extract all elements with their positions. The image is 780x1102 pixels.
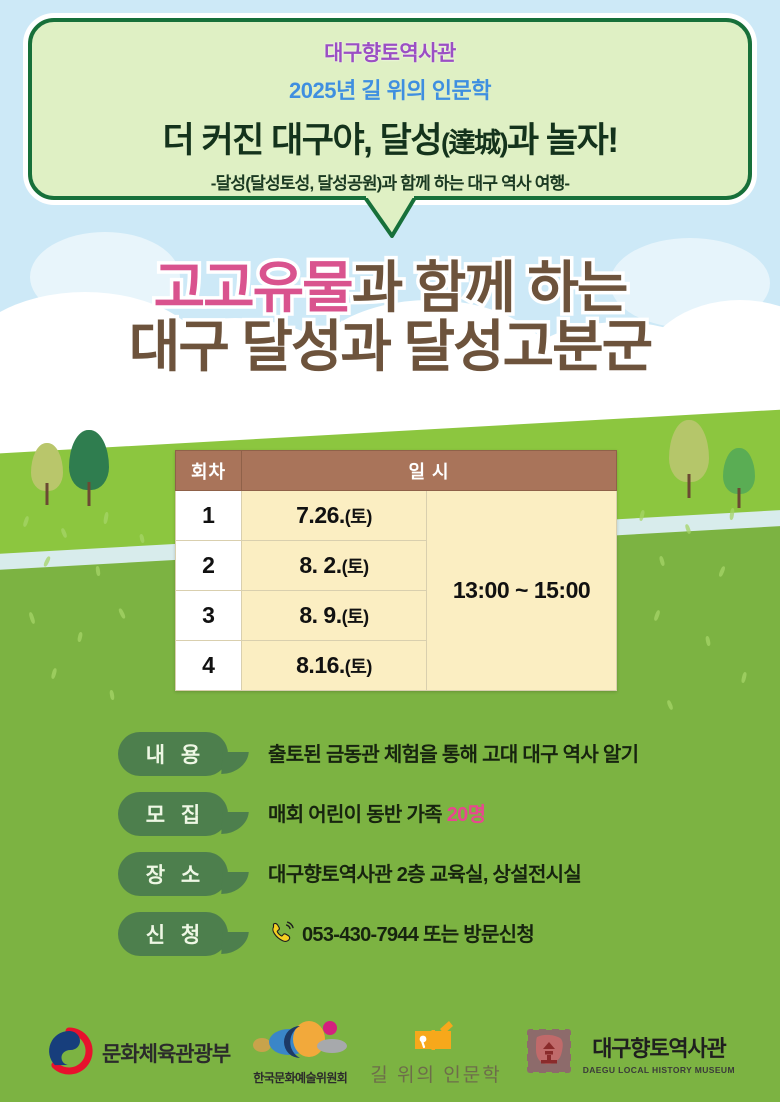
logo-arts-council: 한국문화예술위원회 (252, 1020, 348, 1086)
date-value: 8.16. (296, 652, 345, 678)
phone-icon (268, 921, 296, 951)
phone-number[interactable]: 053-430-7944 (302, 924, 418, 946)
bubble-tail-icon (221, 872, 249, 894)
event-title-main: 더 커진 대구야, 달성 (163, 121, 442, 160)
info-label-text: 신 청 (141, 919, 205, 949)
logo-gil-label: 길 위의 인문학 (370, 1060, 501, 1087)
date-dow: (토) (342, 557, 369, 577)
title-line-1-pink: 고고유물 (154, 256, 352, 319)
logo-museum-ko: 대구향토역사관 (592, 1031, 725, 1063)
info-value-recruit: 매회 어린이 동반 가족 20명 (268, 798, 485, 827)
recruit-count-highlight: 20명 (447, 804, 486, 826)
info-label-bubble-place: 장 소 (118, 852, 228, 896)
logo-museum-en: DAEGU LOCAL HISTORY MUSEUM (583, 1065, 735, 1075)
date-value: 8. 9. (299, 602, 341, 628)
date-dow: (토) (345, 507, 372, 527)
cell-date: 7.26.(토) (242, 491, 427, 541)
logo-museum: 대구향토역사관 DAEGU LOCAL HISTORY MUSEUM (524, 1026, 735, 1081)
header-cell-datetime: 일 시 (242, 451, 617, 491)
info-section: 내 용 출토된 금동관 체험을 통해 고대 대구 역사 알기 모 집 매회 어린… (0, 726, 780, 966)
event-title-tail: 과 놀자! (507, 121, 617, 160)
cell-session-no: 3 (176, 591, 242, 641)
logo-gil-humanities: 길 위의 인문학 (370, 1019, 501, 1087)
date-value: 8. 2. (299, 552, 341, 578)
tree-green-right (722, 448, 756, 508)
logo-ministry: 문화체육관광부 (45, 1027, 230, 1080)
info-value-place: 대구향토역사관 2층 교육실, 상설전시실 (268, 858, 581, 887)
museum-name: 대구향토역사관 (32, 37, 748, 67)
bubble-tail-icon (221, 812, 249, 834)
footer-logos: 문화체육관광부 한국문화예술위원회 (0, 1010, 780, 1096)
cell-session-no: 2 (176, 541, 242, 591)
date-value: 7.26. (296, 502, 345, 528)
table-header-row: 회차 일 시 (176, 451, 617, 491)
event-subtitle: -달성(달성토성, 달성공원)과 함께 하는 대구 역사 여행- (32, 169, 748, 194)
event-title-hanja: (達城) (441, 128, 507, 158)
header-speech-card: 대구향토역사관 2025년 길 위의 인문학 더 커진 대구야, 달성(達城)과… (28, 18, 752, 200)
info-label-text: 내 용 (141, 739, 205, 769)
cell-time-range: 13:00 ~ 15:00 (427, 491, 617, 691)
tree-dark-left (68, 430, 110, 506)
cell-session-no: 1 (176, 491, 242, 541)
header-cell-session: 회차 (176, 451, 242, 491)
info-label-text: 모 집 (141, 799, 205, 829)
arts-council-mark-icon (252, 1020, 348, 1067)
info-row-recruit: 모 집 매회 어린이 동반 가족 20명 (0, 786, 780, 846)
cell-date: 8. 9.(토) (242, 591, 427, 641)
info-label-bubble-apply: 신 청 (118, 912, 228, 956)
bubble-tail-icon (221, 752, 249, 774)
title-line-2: 대구 달성과 달성고분군 (0, 317, 780, 376)
info-row-content: 내 용 출토된 금동관 체험을 통해 고대 대구 역사 알기 (0, 726, 780, 786)
cell-date: 8.16.(토) (242, 641, 427, 691)
recruit-text: 매회 어린이 동반 가족 (268, 804, 447, 826)
logo-arts-council-label: 한국문화예술위원회 (253, 1069, 347, 1086)
info-row-place: 장 소 대구향토역사관 2층 교육실, 상설전시실 (0, 846, 780, 906)
tree-olive-left (30, 443, 64, 505)
date-dow: (토) (342, 607, 369, 627)
title-line-2-text: 대구 달성과 달성고분군 (129, 315, 651, 378)
info-value-apply: 053-430-7944 또는 방문신청 (268, 918, 534, 951)
logo-museum-text-block: 대구향토역사관 DAEGU LOCAL HISTORY MUSEUM (583, 1031, 735, 1075)
schedule-table: 회차 일 시 1 7.26.(토) 13:00 ~ 15:00 2 8. 2.(… (175, 450, 617, 691)
poster-root: 대구향토역사관 2025년 길 위의 인문학 더 커진 대구야, 달성(達城)과… (0, 0, 780, 1102)
book-pencil-icon (410, 1019, 462, 1058)
event-title: 더 커진 대구야, 달성(達城)과 놀자! (32, 112, 748, 163)
logo-ministry-label: 문화체육관광부 (102, 1038, 230, 1068)
info-label-bubble-content: 내 용 (118, 732, 228, 776)
schedule-table-wrapper: 회차 일 시 1 7.26.(토) 13:00 ~ 15:00 2 8. 2.(… (175, 450, 617, 691)
poster-main-title: 고고유물과 함께 하는 대구 달성과 달성고분군 (0, 258, 780, 377)
info-label-bubble-recruit: 모 집 (118, 792, 228, 836)
info-value-content: 출토된 금동관 체험을 통해 고대 대구 역사 알기 (268, 738, 638, 767)
info-row-apply: 신 청 053-430-7944 또는 방문신청 (0, 906, 780, 966)
cell-session-no: 4 (176, 641, 242, 691)
title-line-1-brown: 과 함께 하는 (352, 256, 627, 319)
museum-seal-icon (524, 1026, 574, 1081)
table-row: 1 7.26.(토) 13:00 ~ 15:00 (176, 491, 617, 541)
bubble-tail-icon (221, 932, 249, 954)
date-dow: (토) (345, 657, 372, 677)
speech-bubble-tail (362, 196, 418, 238)
tree-olive-right (668, 420, 710, 498)
apply-note: 또는 방문신청 (418, 924, 534, 946)
title-line-1: 고고유물과 함께 하는 (0, 258, 780, 317)
info-label-text: 장 소 (141, 859, 205, 889)
taegeuk-icon (45, 1027, 93, 1080)
program-name: 2025년 길 위의 인문학 (32, 73, 748, 105)
cell-date: 8. 2.(토) (242, 541, 427, 591)
